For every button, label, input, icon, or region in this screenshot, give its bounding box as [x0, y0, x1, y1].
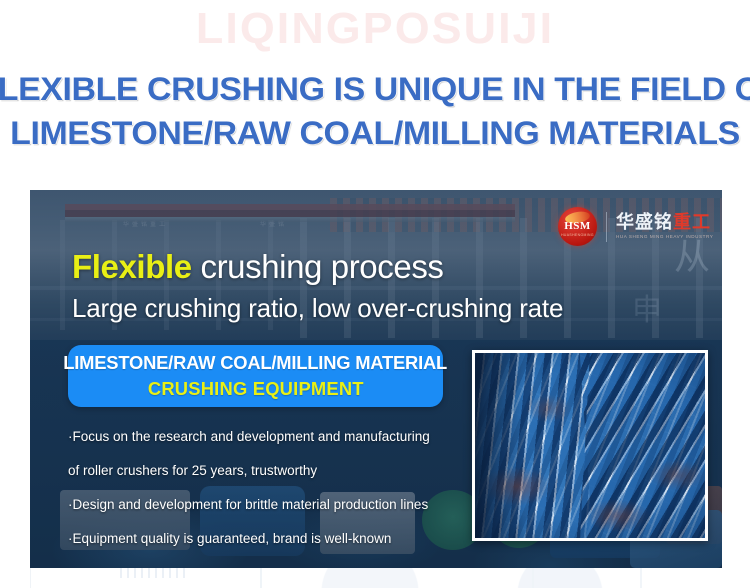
headline-rest-text: crushing process [200, 248, 443, 285]
bullet-item: ·Design and development for brittle mate… [68, 488, 488, 522]
logo-divider [606, 212, 607, 242]
promo-banner: 华盛铭重工 华盛铭 从 申 HSM HUASHENGMING 华盛铭重工 HUA… [30, 190, 722, 568]
hsm-badge-icon: HSM HUASHENGMING [558, 207, 597, 246]
hsm-badge-text: HSM [564, 220, 591, 232]
feature-bullet-list: ·Focus on the research and development a… [68, 420, 488, 556]
page-title-line-1: FLEXIBLE CRUSHING IS UNIQUE IN THE FIELD… [0, 67, 750, 111]
equipment-label-box: LIMESTONE/RAW COAL/MILLING MATERIAL CRUS… [68, 345, 443, 407]
logo-english-name: HUA SHENG MING HEAVY INDUSTRY [616, 235, 713, 240]
logo-wordmark: 华盛铭重工 HUA SHENG MING HEAVY INDUSTRY [616, 214, 713, 240]
equipment-label-line-1: LIMESTONE/RAW COAL/MILLING MATERIAL [64, 353, 448, 374]
inset-shadow-overlay [475, 353, 526, 538]
bullet-item: ·Equipment quality is guaranteed, brand … [68, 522, 488, 556]
ghost-character-2-icon: 申 [632, 285, 662, 329]
company-logo: HSM HUASHENGMING 华盛铭重工 HUA SHENG MING HE… [558, 207, 713, 246]
page-title-line-2: LIMESTONE/RAW COAL/MILLING MATERIALS [0, 111, 750, 155]
product-inset-photo [472, 350, 708, 541]
page-title: FLEXIBLE CRUSHING IS UNIQUE IN THE FIELD… [0, 67, 750, 155]
bullet-item: of roller crushers for 25 years, trustwo… [68, 454, 488, 488]
logo-chinese-primary: 华盛铭 [616, 212, 673, 233]
logo-chinese-name: 华盛铭重工 [616, 214, 713, 232]
hsm-badge-subtext: HUASHENGMING [561, 233, 594, 237]
bullet-item: ·Focus on the research and development a… [68, 420, 488, 454]
logo-chinese-accent: 重工 [673, 212, 711, 233]
page-watermark: LIQINGPOSUIJI [0, 4, 750, 54]
banner-headline-line-1: Flexible crushing process [72, 248, 444, 286]
banner-headline-line-2: Large crushing ratio, low over-crushing … [72, 293, 563, 324]
headline-highlight-word: Flexible [72, 248, 192, 285]
equipment-label-line-2: CRUSHING EQUIPMENT [148, 379, 364, 400]
